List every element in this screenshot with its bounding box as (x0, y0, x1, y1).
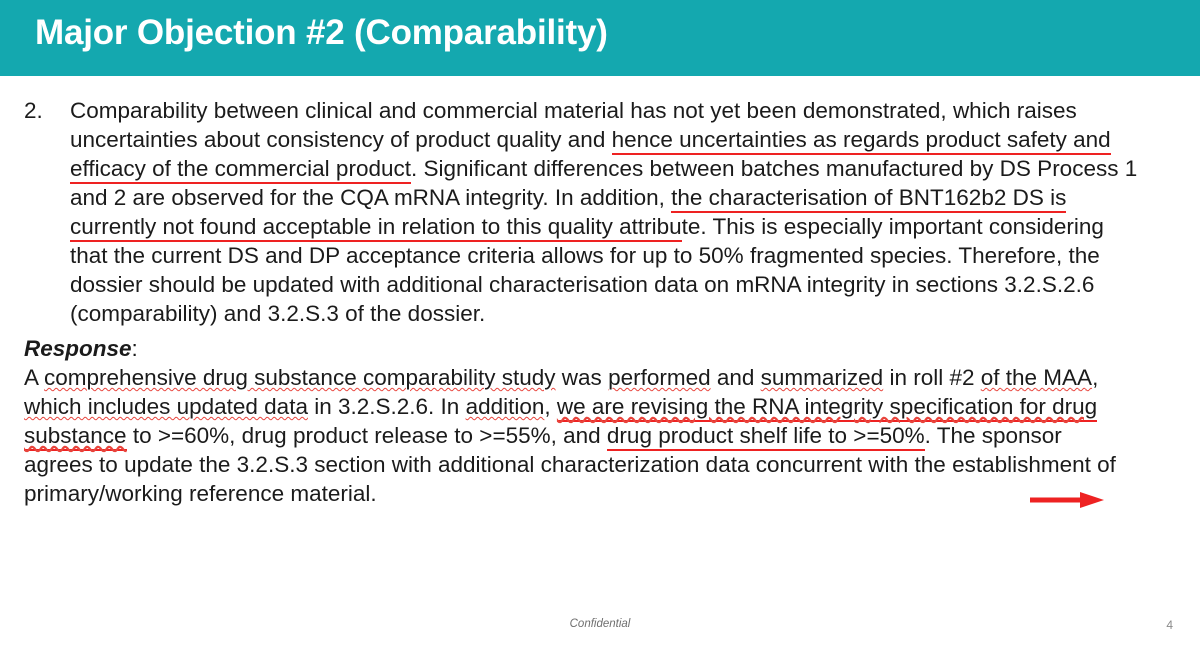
response-line-1-seg-h: of the MAA (981, 365, 1092, 390)
response-line-2-seg-a: which includes updated data (24, 394, 308, 419)
response-line-1-seg-e: and (711, 365, 761, 390)
slide-body: 2. Comparability between clinical and co… (0, 76, 1200, 606)
slide-footer: Confidential 4 (0, 618, 1200, 648)
response-line-1-seg-g: in roll #2 (883, 365, 981, 390)
objection-line-8-text: (comparability) and 3.2.S.3 of the dossi… (70, 301, 485, 326)
objection-line-7: dossier should be updated with additiona… (70, 270, 1174, 299)
response-line-3-seg-a: substance (24, 423, 127, 451)
objection-line-4-underlined: the characterisation of BNT162b2 DS is (671, 185, 1066, 213)
response-line-1-seg-d: performed (608, 365, 711, 390)
objection-line-2-underlined: hence uncertainties as regards product s… (612, 127, 1111, 155)
response-line-1: A comprehensive drug substance comparabi… (24, 363, 1184, 392)
slide: Major Objection #2 (Comparability) 2. Co… (0, 0, 1200, 657)
response-line-1-seg-c: was (556, 365, 609, 390)
response-line-2: which includes updated data in 3.2.S.2.6… (24, 392, 1184, 421)
response-line-3: substance to >=60%, drug product release… (24, 421, 1184, 450)
objection-line-8: (comparability) and 3.2.S.3 of the dossi… (70, 299, 1174, 328)
objection-line-1: Comparability between clinical and comme… (70, 96, 1174, 125)
response-line-3-seg-c: drug product shelf life to >=50% (607, 423, 925, 451)
objection-text: Comparability between clinical and comme… (70, 96, 1174, 328)
response-line-4: agrees to update the 3.2.S.3 section wit… (24, 450, 1184, 479)
objection-line-6-text: that the current DS and DP acceptance cr… (70, 243, 1100, 268)
response-line-2-seg-d: , (544, 394, 557, 419)
objection-block: 2. Comparability between clinical and co… (24, 96, 1174, 328)
footer-page-number: 4 (1166, 618, 1173, 632)
response-heading-colon: : (132, 336, 138, 361)
objection-list-marker: 2. (24, 96, 70, 125)
response-heading: Response (24, 336, 132, 361)
objection-line-4-plain: and 2 are observed for the CQA mRNA inte… (70, 185, 671, 210)
objection-line-2-plain: uncertainties about consistency of produ… (70, 127, 612, 152)
objection-line-3-underlined: efficacy of the commercial product (70, 156, 411, 184)
response-line-3-seg-b: to >=60%, drug product release to >=55%,… (127, 423, 607, 448)
slide-title: Major Objection #2 (Comparability) (35, 13, 608, 53)
objection-line-3-plain: . Significant differences between batche… (411, 156, 1137, 181)
objection-line-5-plain: te. This is especially important conside… (682, 214, 1104, 239)
response-line-5-text: primary/working reference material. (24, 481, 377, 506)
slide-title-band: Major Objection #2 (Comparability) (0, 0, 1200, 76)
response-line-1-seg-i: , (1092, 365, 1098, 390)
response-line-2-seg-b: in 3.2.S.2.6. In (308, 394, 466, 419)
response-block: Response: A comprehensive drug substance… (24, 334, 1184, 508)
objection-line-2: uncertainties about consistency of produ… (70, 125, 1174, 154)
objection-line-7-text: dossier should be updated with additiona… (70, 272, 1094, 297)
response-line-1-seg-f: summarized (761, 365, 884, 390)
objection-line-5-underlined: currently not found acceptable in relati… (70, 214, 682, 242)
response-line-2-seg-e: we are revising the RNA integrity specif… (557, 394, 1097, 422)
response-line-2-seg-c: addition (466, 394, 545, 419)
response-heading-line: Response: (24, 334, 1184, 363)
response-line-1-seg-a: A (24, 365, 44, 390)
response-line-1-seg-b: comprehensive drug substance comparabili… (44, 365, 556, 390)
response-line-3-seg-d: . The sponsor (925, 423, 1062, 448)
objection-line-3: efficacy of the commercial product. Sign… (70, 154, 1174, 183)
footer-confidential-label: Confidential (0, 618, 1200, 630)
objection-line-1-text: Comparability between clinical and comme… (70, 98, 1077, 123)
response-line-4-text: agrees to update the 3.2.S.3 section wit… (24, 452, 1116, 477)
response-line-5: primary/working reference material. (24, 479, 1184, 508)
objection-line-5: currently not found acceptable in relati… (70, 212, 1174, 241)
objection-line-6: that the current DS and DP acceptance cr… (70, 241, 1174, 270)
objection-line-4: and 2 are observed for the CQA mRNA inte… (70, 183, 1174, 212)
